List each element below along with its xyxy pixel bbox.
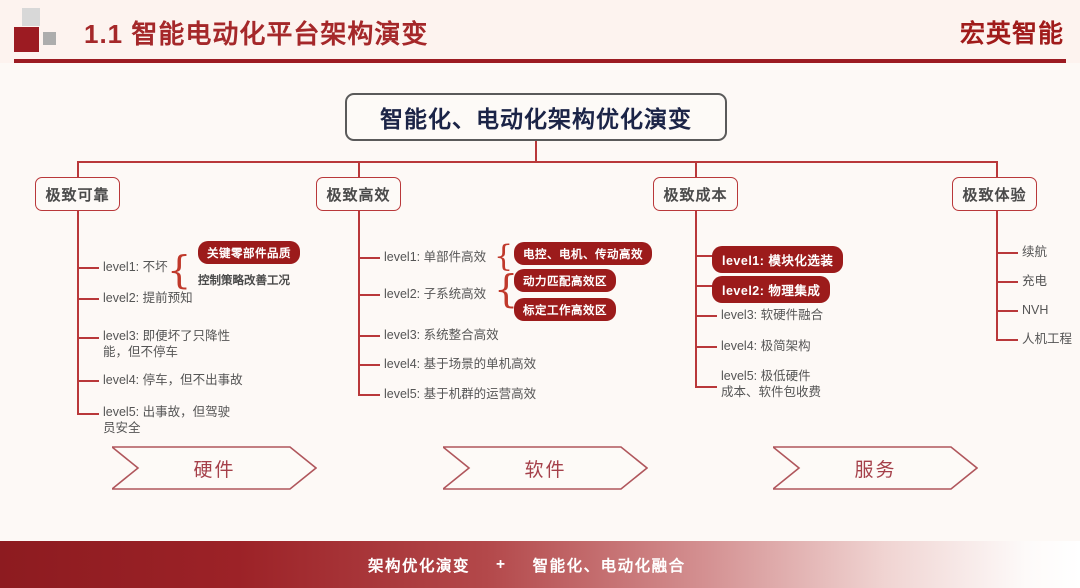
decor-square-red bbox=[14, 27, 39, 52]
col3-pill-level2[interactable]: level2: 物理集成 bbox=[712, 276, 830, 303]
chevron-hardware[interactable]: 硬件 bbox=[112, 446, 317, 490]
col3-tick-3 bbox=[695, 315, 717, 317]
category-box-experience[interactable]: 极致体验 bbox=[952, 177, 1037, 211]
col1-item-level2: level2: 提前预知 bbox=[103, 290, 193, 306]
page-title: 1.1 智能电动化平台架构演变 bbox=[84, 14, 428, 51]
col4-tick-1 bbox=[996, 252, 1018, 254]
col4-item-ergonomics: 人机工程 bbox=[1022, 331, 1072, 347]
col1-tick-4 bbox=[77, 380, 99, 382]
col1-tick-5 bbox=[77, 413, 99, 415]
col4-item-range: 续航 bbox=[1022, 244, 1047, 260]
connector-to-cat-4 bbox=[996, 161, 998, 178]
col2-tick-5 bbox=[358, 394, 380, 396]
col1-tick-1 bbox=[77, 267, 99, 269]
brand-logo: 宏英智能 bbox=[960, 14, 1064, 50]
connector-to-cat-3 bbox=[695, 161, 697, 178]
category-box-cost[interactable]: 极致成本 bbox=[653, 177, 738, 211]
col1-badge-quality[interactable]: 关键零部件品质 bbox=[198, 241, 300, 264]
col1-tick-2 bbox=[77, 298, 99, 300]
col1-note-control: 控制策略改善工况 bbox=[198, 272, 290, 288]
col2-badge-l2-2[interactable]: 标定工作高效区 bbox=[514, 298, 616, 321]
connector-root-drop bbox=[535, 141, 537, 162]
col3-tick-1 bbox=[695, 255, 712, 257]
col1-item-level1: level1: 不坏 bbox=[103, 259, 168, 275]
footer-left-label: 架构优化演变 bbox=[368, 554, 470, 576]
col2-item-level5: level5: 基于机群的运营高效 bbox=[384, 386, 536, 402]
col4-tick-3 bbox=[996, 310, 1018, 312]
col3-pill-level1[interactable]: level1: 模块化选装 bbox=[712, 246, 843, 273]
col1-spine bbox=[77, 225, 79, 413]
page-footer: 架构优化演变 + 智能化、电动化融合 bbox=[0, 541, 1080, 588]
col2-tick-2 bbox=[358, 294, 380, 296]
connector-to-cat-2 bbox=[358, 161, 360, 178]
col2-tick-3 bbox=[358, 335, 380, 337]
connector-cat3-drop bbox=[695, 211, 697, 225]
connector-to-cat-1 bbox=[77, 161, 79, 178]
col2-tick-4 bbox=[358, 364, 380, 366]
chevron-hardware-label: 硬件 bbox=[193, 455, 235, 482]
col4-item-nvh: NVH bbox=[1022, 302, 1048, 318]
col2-item-level2: level2: 子系统高效 bbox=[384, 286, 486, 302]
category-box-reliability[interactable]: 极致可靠 bbox=[35, 177, 120, 211]
page-header: 1.1 智能电动化平台架构演变 宏英智能 bbox=[0, 0, 1080, 63]
decor-square-gray-small bbox=[43, 32, 56, 45]
col3-item-level5: level5: 极低硬件 成本、软件包收费 bbox=[721, 368, 821, 400]
decor-square-gray-top bbox=[22, 8, 40, 26]
footer-content: 架构优化演变 + 智能化、电动化融合 bbox=[368, 554, 686, 576]
chevron-service-label: 服务 bbox=[854, 455, 896, 482]
col3-tick-4 bbox=[695, 346, 717, 348]
category-box-efficiency[interactable]: 极致高效 bbox=[316, 177, 401, 211]
col1-item-level4: level4: 停车，但不出事故 bbox=[103, 372, 243, 388]
col2-tick-1 bbox=[358, 257, 380, 259]
col3-item-level4: level4: 极简架构 bbox=[721, 338, 811, 354]
col2-item-level1: level1: 单部件高效 bbox=[384, 249, 486, 265]
col2-item-level4: level4: 基于场景的单机高效 bbox=[384, 356, 536, 372]
col2-badge-l2-1[interactable]: 动力匹配高效区 bbox=[514, 269, 616, 292]
col1-brace-icon: { bbox=[167, 248, 191, 292]
col1-item-level5: level5: 出事故，但驾驶 员安全 bbox=[103, 404, 230, 436]
col2-badge-l1-1[interactable]: 电控、电机、传动高效 bbox=[514, 242, 652, 265]
connector-cat2-drop bbox=[358, 211, 360, 225]
col4-tick-4 bbox=[996, 339, 1018, 341]
chevron-service[interactable]: 服务 bbox=[773, 446, 978, 490]
diagram-canvas: 智能化、电动化架构优化演变 极致可靠 极致高效 极致成本 极致体验 level1… bbox=[0, 63, 1080, 541]
connector-cat4-drop bbox=[996, 211, 998, 225]
col2-item-level3: level3: 系统整合高效 bbox=[384, 327, 499, 343]
col1-item-level3: level3: 即便坏了只降性 能，但不停车 bbox=[103, 328, 230, 360]
col3-spine bbox=[695, 225, 697, 387]
footer-plus-sign: + bbox=[496, 556, 507, 574]
col3-tick-2 bbox=[695, 285, 712, 287]
root-title-box: 智能化、电动化架构优化演变 bbox=[345, 93, 727, 141]
chevron-software[interactable]: 软件 bbox=[443, 446, 648, 490]
chevron-software-label: 软件 bbox=[524, 455, 566, 482]
col3-tick-5 bbox=[695, 386, 717, 388]
connector-bus bbox=[77, 161, 997, 163]
col4-item-charging: 充电 bbox=[1022, 273, 1047, 289]
col2-spine bbox=[358, 225, 360, 394]
connector-cat1-drop bbox=[77, 211, 79, 225]
col4-tick-2 bbox=[996, 281, 1018, 283]
footer-right-label: 智能化、电动化融合 bbox=[533, 554, 686, 576]
col1-tick-3 bbox=[77, 337, 99, 339]
col3-item-level3: level3: 软硬件融合 bbox=[721, 307, 823, 323]
